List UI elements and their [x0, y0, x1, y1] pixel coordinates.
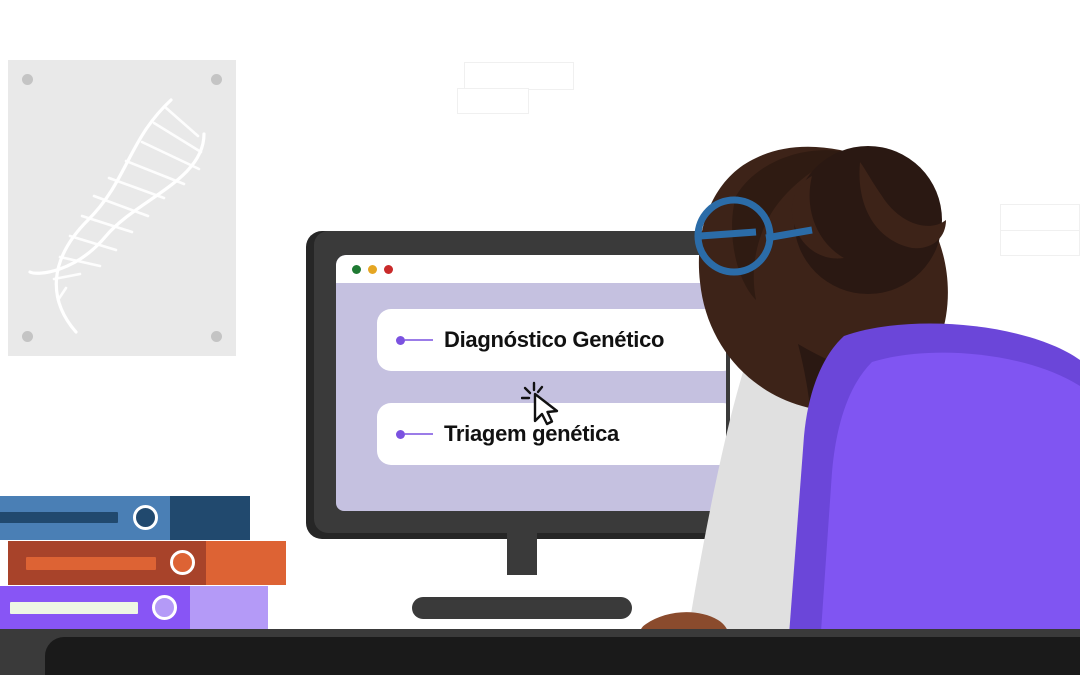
book-label-bar — [10, 602, 138, 614]
illustration-scene: Diagnóstico Genético Triagem genética — [0, 0, 1080, 675]
desk-surface — [45, 637, 1080, 675]
dna-helix-poster — [8, 60, 236, 356]
book-ring-icon — [170, 550, 195, 575]
background-rect-1 — [464, 62, 574, 90]
poster-pin-bottom-left — [22, 331, 33, 342]
book-blue — [0, 496, 250, 540]
book-purple — [0, 586, 268, 630]
dna-helix-icon — [8, 60, 236, 356]
book-orange — [8, 541, 286, 585]
chair-back — [818, 353, 1080, 675]
book-label-bar — [26, 557, 156, 570]
bullet-dot-icon — [396, 430, 405, 439]
book-label-bar — [0, 512, 118, 523]
poster-pin-bottom-right — [211, 331, 222, 342]
person-researcher — [560, 100, 1080, 675]
book-edge — [206, 541, 286, 585]
traffic-light-green-icon[interactable] — [352, 265, 361, 274]
book-ring-icon — [133, 505, 158, 530]
book-ring-icon — [152, 595, 177, 620]
book-edge — [190, 586, 268, 630]
hair-bun — [794, 146, 942, 294]
traffic-light-red-icon[interactable] — [384, 265, 393, 274]
book-edge — [170, 496, 250, 540]
bullet-line-icon — [405, 339, 433, 342]
bullet-marker-icon — [396, 336, 433, 345]
bullet-marker-icon — [396, 430, 433, 439]
background-rect-2 — [457, 88, 529, 114]
traffic-light-yellow-icon[interactable] — [368, 265, 377, 274]
poster-pin-top-right — [211, 74, 222, 85]
bullet-line-icon — [405, 433, 433, 436]
monitor-stand-neck — [507, 533, 537, 575]
bullet-dot-icon — [396, 336, 405, 345]
poster-pin-top-left — [22, 74, 33, 85]
